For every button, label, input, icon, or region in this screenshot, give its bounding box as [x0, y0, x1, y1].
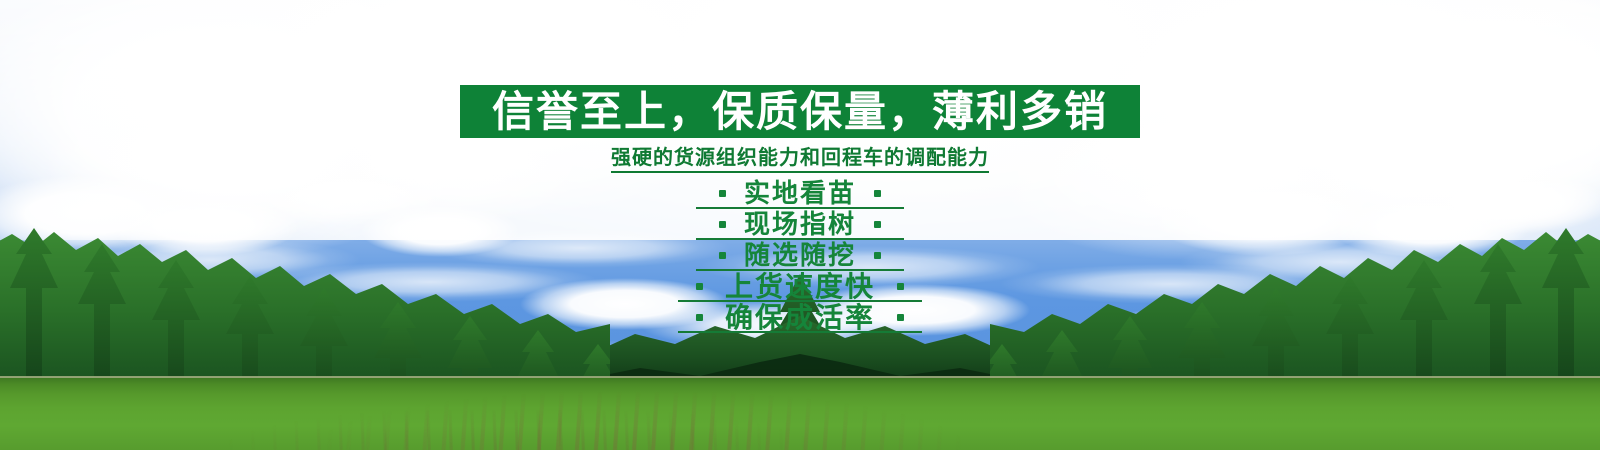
- feature-item: 随选随挖: [719, 240, 881, 271]
- bullet-dot-icon: [897, 283, 904, 290]
- headline-text: 信誉至上，保质保量，薄利多销: [492, 91, 1108, 133]
- feature-label: 现场指树: [744, 212, 856, 238]
- bullet-dot-icon: [874, 190, 881, 197]
- bullet-dot-icon: [897, 314, 904, 321]
- feature-list: 实地看苗 现场指树 随选随挖 上货速度快: [696, 178, 904, 333]
- feature-item: 实地看苗: [719, 178, 881, 209]
- bullet-dot-icon: [719, 190, 726, 197]
- bullet-dot-icon: [696, 314, 703, 321]
- feature-label: 确保成活率: [725, 304, 875, 332]
- feature-item: 确保成活率: [696, 302, 904, 333]
- feature-label: 实地看苗: [744, 181, 856, 207]
- headline-bar: 信誉至上，保质保量，薄利多销: [460, 85, 1140, 138]
- bullet-dot-icon: [719, 252, 726, 259]
- feature-underline: [678, 331, 922, 333]
- bullet-dot-icon: [696, 283, 703, 290]
- subtitle-text: 强硬的货源组织能力和回程车的调配能力: [611, 147, 989, 173]
- bullet-dot-icon: [874, 252, 881, 259]
- feature-item: 上货速度快: [696, 271, 904, 302]
- bullet-dot-icon: [719, 221, 726, 228]
- promo-banner: 信誉至上，保质保量，薄利多销 强硬的货源组织能力和回程车的调配能力 实地看苗 现…: [0, 0, 1600, 450]
- feature-item: 现场指树: [719, 209, 881, 240]
- banner-content: 信誉至上，保质保量，薄利多销 强硬的货源组织能力和回程车的调配能力 实地看苗 现…: [0, 0, 1600, 450]
- feature-label: 随选随挖: [744, 243, 856, 269]
- bullet-dot-icon: [874, 221, 881, 228]
- feature-label: 上货速度快: [725, 273, 875, 301]
